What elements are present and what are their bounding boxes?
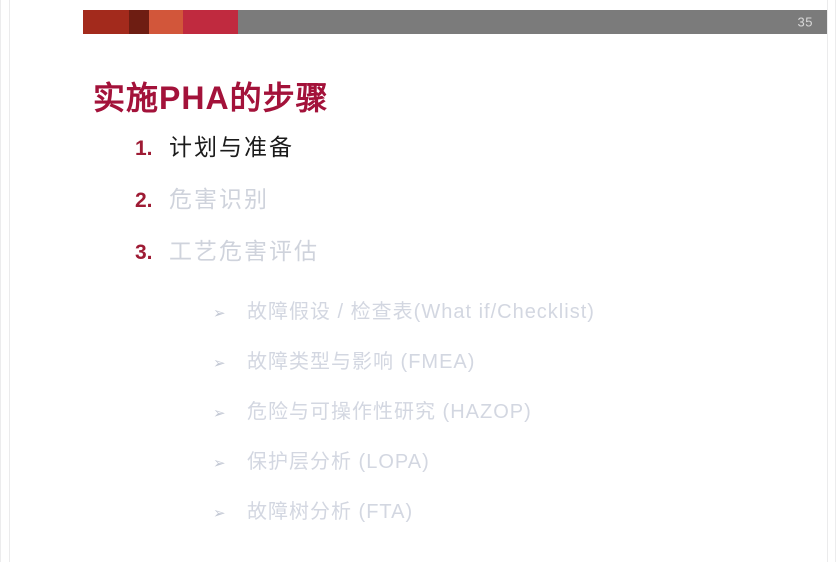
list-item: 2. 危害识别 [135, 180, 795, 232]
list-item-label: 故障类型与影响 (FMEA) [247, 345, 475, 374]
list-item-label: 危害识别 [169, 180, 269, 214]
list-item-number: 3. [135, 241, 169, 265]
arrow-bullet-icon: ➢ [213, 406, 247, 421]
arrow-bullet-icon: ➢ [213, 506, 247, 521]
list-item-label: 保护层分析 (LOPA) [247, 445, 430, 474]
banner-segment-orange-red [149, 10, 183, 34]
arrow-bullet-icon: ➢ [213, 456, 247, 471]
list-item: 1. 计划与准备 [135, 128, 795, 180]
list-item: ➢ 故障树分析 (FTA) [213, 495, 813, 545]
sub-bullet-list: ➢ 故障假设 / 检查表(What if/Checklist) ➢ 故障类型与影… [213, 295, 813, 545]
slide-title: 实施PHA的步骤 [93, 73, 329, 119]
slide-frame-line-right [827, 0, 828, 562]
banner-segment-gray: 35 [238, 10, 827, 34]
list-item: ➢ 危险与可操作性研究 (HAZOP) [213, 395, 813, 445]
list-item-label: 危险与可操作性研究 (HAZOP) [247, 395, 532, 424]
slide-frame-line-left [9, 0, 10, 562]
list-item: ➢ 故障假设 / 检查表(What if/Checklist) [213, 295, 813, 345]
page-number: 35 [798, 16, 813, 29]
list-item-label: 计划与准备 [169, 128, 294, 162]
banner-segment-crimson [183, 10, 238, 34]
arrow-bullet-icon: ➢ [213, 356, 247, 371]
list-item-number: 1. [135, 137, 169, 161]
slide-header-banner: 35 [83, 10, 827, 34]
banner-segment-dark-maroon [129, 10, 149, 34]
numbered-step-list: 1. 计划与准备 2. 危害识别 3. 工艺危害评估 [135, 128, 795, 284]
banner-segment-brick-red [83, 10, 129, 34]
list-item-number: 2. [135, 189, 169, 213]
arrow-bullet-icon: ➢ [213, 306, 247, 321]
list-item-label: 故障树分析 (FTA) [247, 495, 413, 524]
list-item-label: 工艺危害评估 [169, 232, 319, 266]
list-item: ➢ 故障类型与影响 (FMEA) [213, 345, 813, 395]
list-item: ➢ 保护层分析 (LOPA) [213, 445, 813, 495]
list-item: 3. 工艺危害评估 [135, 232, 795, 284]
list-item-label: 故障假设 / 检查表(What if/Checklist) [247, 295, 595, 324]
presentation-slide: 35 实施PHA的步骤 1. 计划与准备 2. 危害识别 3. 工艺危害评估 ➢… [0, 0, 836, 562]
